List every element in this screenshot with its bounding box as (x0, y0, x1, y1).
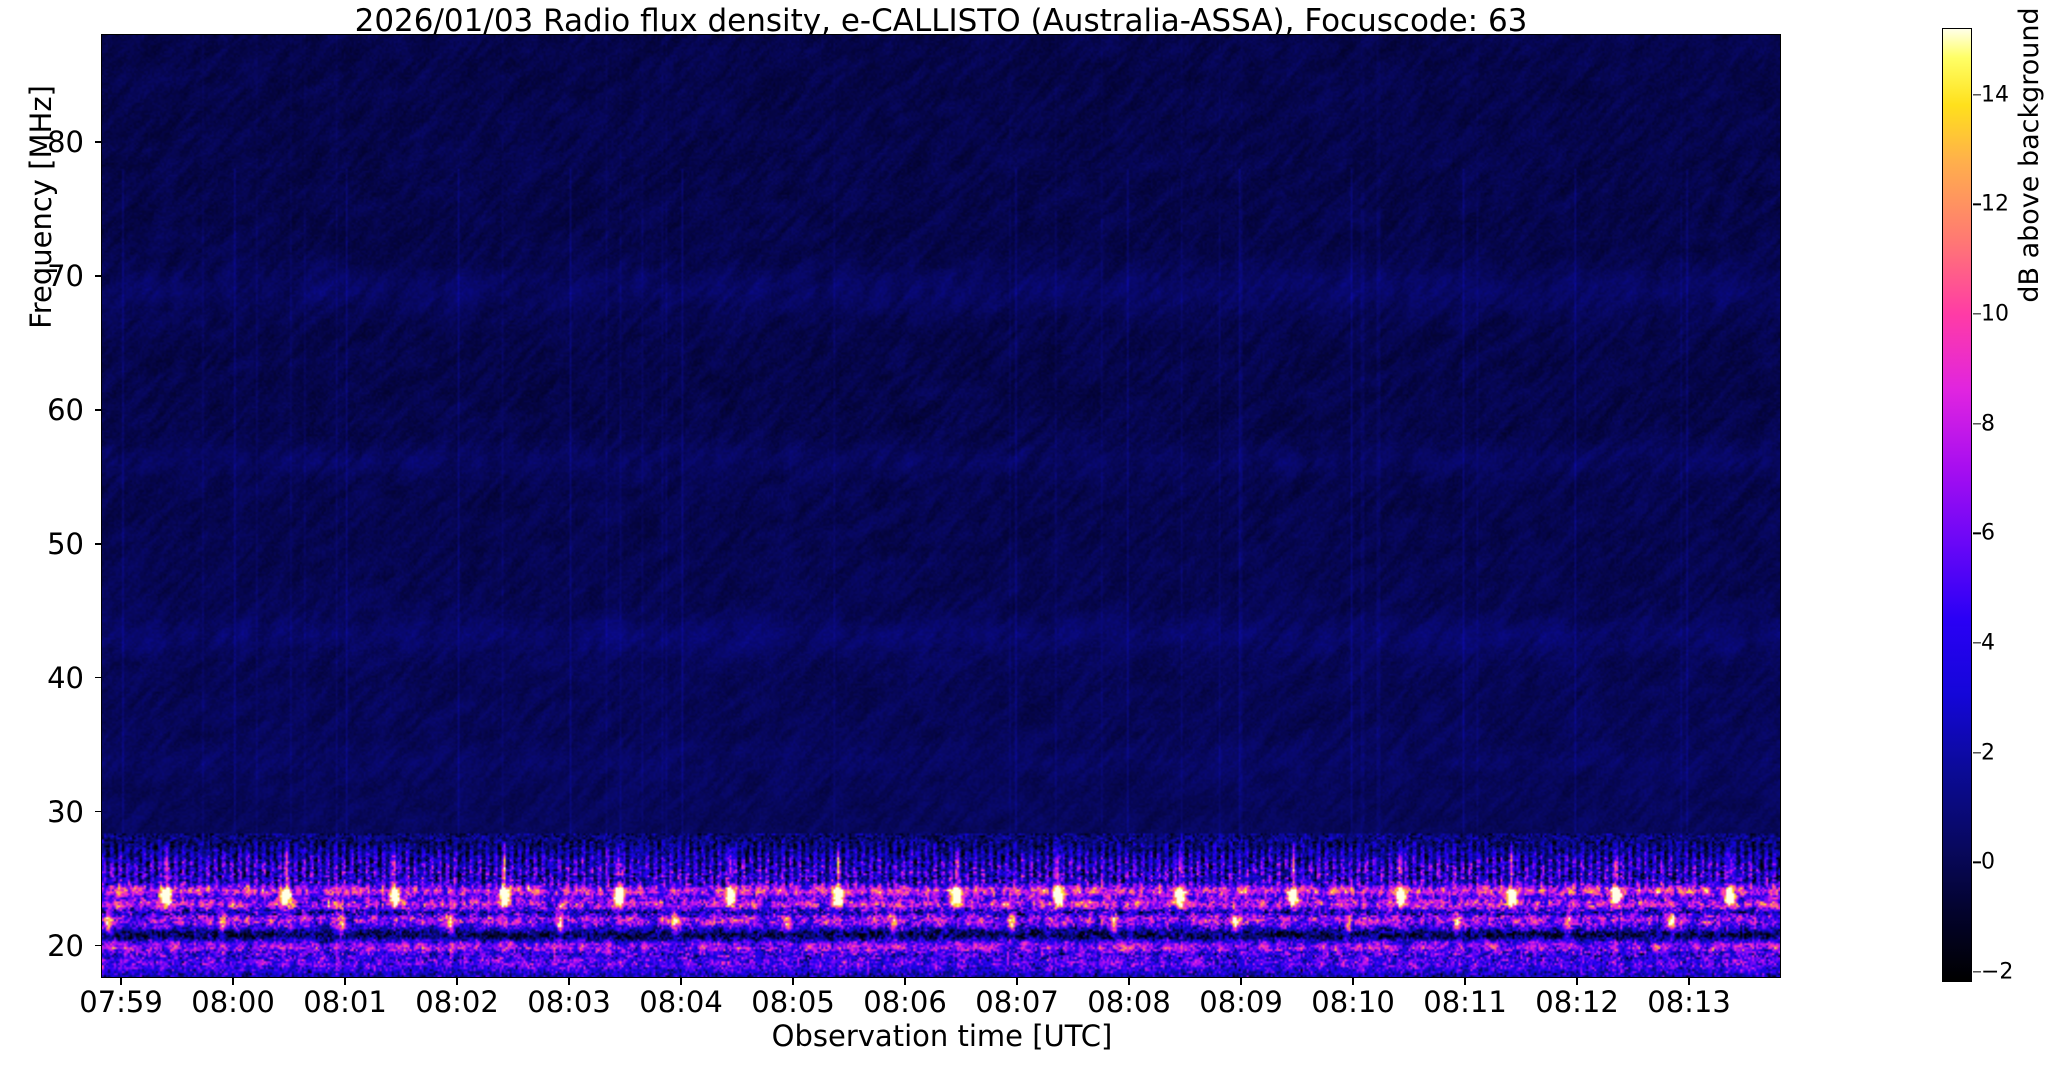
y-axis-tickmark (95, 543, 103, 544)
colorbar-tickmark (1973, 862, 1981, 863)
x-axis-tick-0803: 08:03 (527, 985, 611, 1019)
colorbar-tickmark (1973, 752, 1981, 753)
y-axis-tick-30: 30 (47, 795, 97, 829)
x-axis-tick-0800: 08:00 (191, 985, 275, 1019)
colorbar-tickmark (1973, 423, 1981, 424)
x-axis-tickmark (1240, 977, 1241, 985)
y-axis-tickmark (95, 141, 103, 142)
colorbar-tick-12: 12 (1981, 192, 2009, 217)
x-axis-tick-0810: 08:10 (1311, 985, 1395, 1019)
x-axis-tick-0802: 08:02 (415, 985, 499, 1019)
spectrogram-axes: Frequency [MHz] Observation time [UTC] 2… (101, 34, 1781, 978)
colorbar-tickmark (1973, 204, 1981, 205)
x-axis-tickmark (120, 977, 121, 985)
y-axis-tickmark (95, 677, 103, 678)
x-axis-tickmark (232, 977, 233, 985)
colorbar-tick-4: 4 (1981, 631, 1995, 656)
colorbar-tickmark (1973, 971, 1981, 972)
colorbar-tick-2: 2 (1981, 740, 1995, 765)
x-axis-tickmark (680, 977, 681, 985)
x-axis-tickmark (568, 977, 569, 985)
colorbar: −202468101214 (1942, 28, 1972, 982)
y-axis-tick-60: 60 (47, 393, 97, 427)
x-axis-tick-0805: 08:05 (751, 985, 835, 1019)
y-axis-tickmark (95, 945, 103, 946)
x-axis-tick-0812: 08:12 (1535, 985, 1619, 1019)
y-axis-tick-20: 20 (47, 929, 97, 963)
colorbar-tickmark (1973, 313, 1981, 314)
x-axis-tickmark (792, 977, 793, 985)
x-axis-tickmark (456, 977, 457, 985)
x-axis-tickmark (344, 977, 345, 985)
y-axis-label: Frequency [MHz] (24, 47, 58, 367)
y-axis-tickmark (95, 275, 103, 276)
x-axis-tickmark (1016, 977, 1017, 985)
x-axis-tick-0804: 08:04 (639, 985, 723, 1019)
x-axis-tick-0811: 08:11 (1423, 985, 1507, 1019)
x-axis-tickmark (1464, 977, 1465, 985)
x-axis-tick-0808: 08:08 (1087, 985, 1171, 1019)
colorbar-tick-6: 6 (1981, 521, 1995, 546)
x-axis-tick-0759: 07:59 (79, 985, 163, 1019)
colorbar-tickmark (1973, 642, 1981, 643)
x-axis-tick-0806: 08:06 (863, 985, 947, 1019)
x-axis-tickmark (1352, 977, 1353, 985)
x-axis-label: Observation time [UTC] (102, 1019, 1782, 1053)
colorbar-tick-0: 0 (1981, 850, 1995, 875)
y-axis-tick-40: 40 (47, 661, 97, 695)
y-axis-tick-50: 50 (47, 527, 97, 561)
y-axis-tick-70: 70 (47, 259, 97, 293)
colorbar-gradient (1943, 29, 1971, 981)
colorbar-label: dB above background (2014, 0, 2045, 505)
page-title: 2026/01/03 Radio flux density, e-CALLIST… (101, 4, 1781, 38)
colorbar-tickmark (1973, 533, 1981, 534)
x-axis-tickmark (1128, 977, 1129, 985)
x-axis-tick-0807: 08:07 (975, 985, 1059, 1019)
y-axis-tickmark (95, 409, 103, 410)
figure-canvas: 2026/01/03 Radio flux density, e-CALLIST… (0, 0, 2047, 1067)
x-axis-tick-0809: 08:09 (1199, 985, 1283, 1019)
colorbar-tick--2: −2 (1981, 960, 2013, 985)
spectrogram-image (102, 35, 1780, 977)
x-axis-tickmark (904, 977, 905, 985)
x-axis-tickmark (1576, 977, 1577, 985)
colorbar-tick-8: 8 (1981, 411, 1995, 436)
x-axis-tick-0813: 08:13 (1647, 985, 1731, 1019)
x-axis-tickmark (1688, 977, 1689, 985)
y-axis-tickmark (95, 811, 103, 812)
colorbar-tickmark (1973, 94, 1981, 95)
colorbar-tick-10: 10 (1981, 302, 2009, 327)
y-axis-tick-80: 80 (47, 125, 97, 159)
x-axis-tick-0801: 08:01 (303, 985, 387, 1019)
colorbar-tick-14: 14 (1981, 82, 2009, 107)
